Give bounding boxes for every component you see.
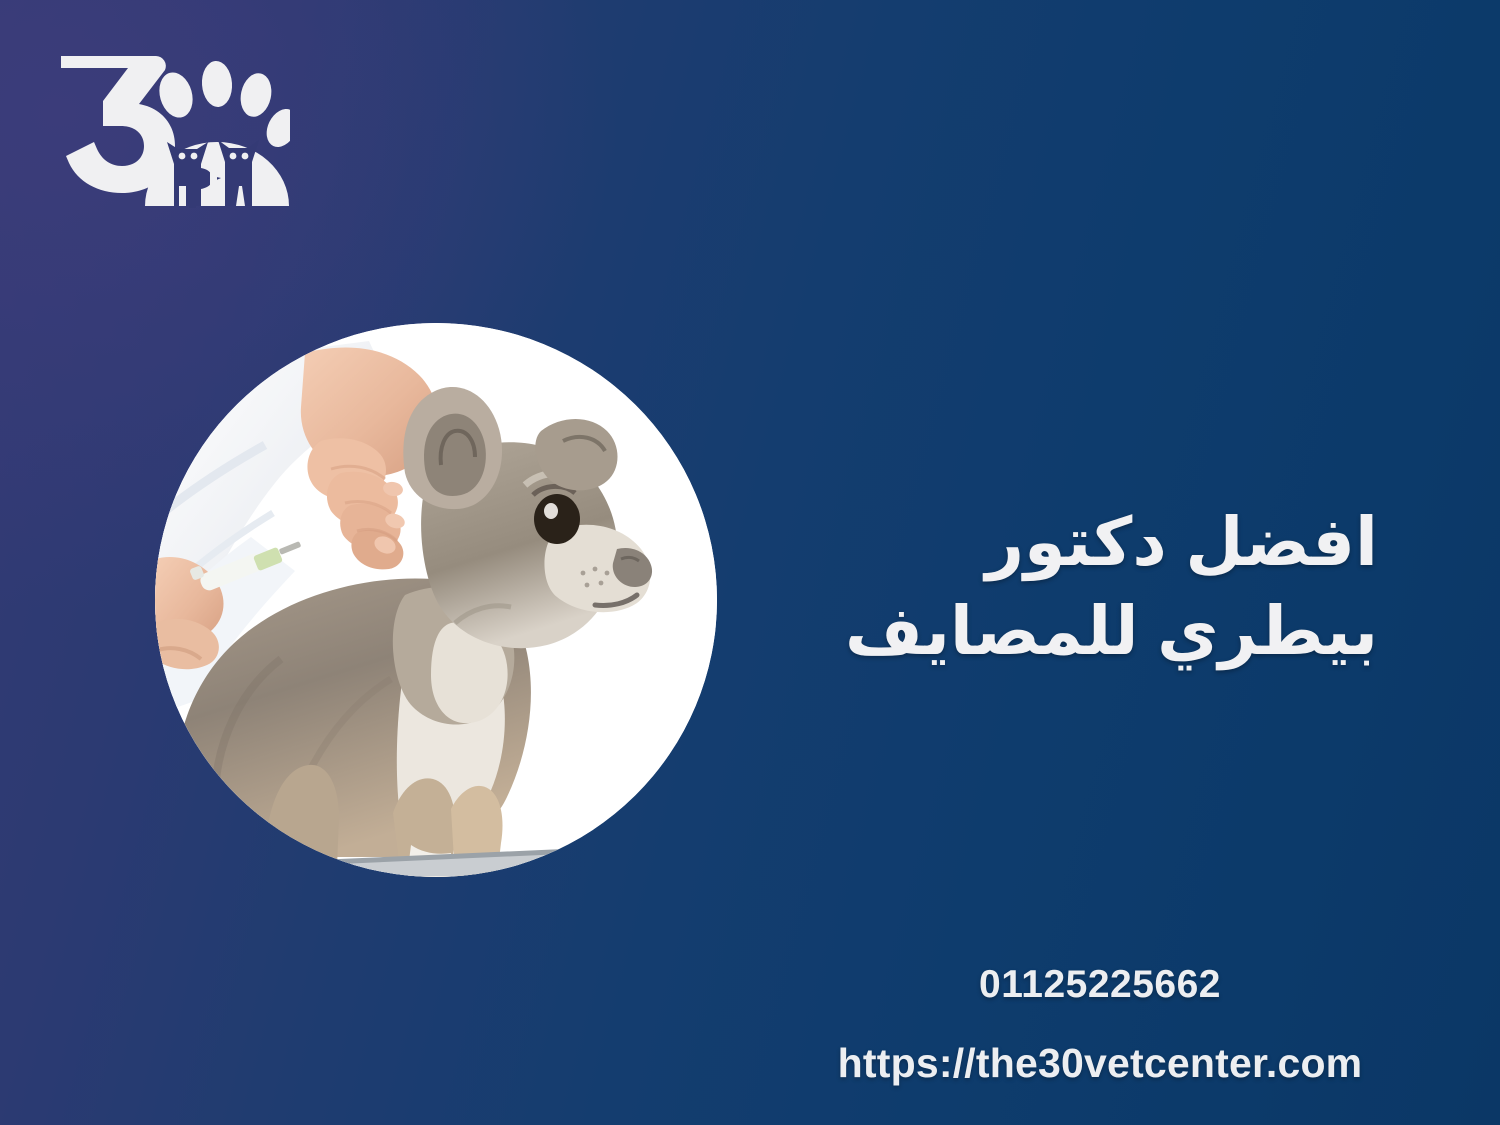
- promo-banner: افضل دكتور بيطري للمصايف 01125225662 htt…: [0, 0, 1500, 1125]
- headline-line-2: بيطري للمصايف: [678, 587, 1378, 676]
- headline-line-1: افضل دكتور: [678, 498, 1378, 587]
- contact-block: 01125225662 https://the30vetcenter.com: [780, 963, 1420, 1087]
- phone-number[interactable]: 01125225662: [780, 963, 1420, 1007]
- brand-logo[interactable]: [55, 48, 290, 208]
- page-title: افضل دكتور بيطري للمصايف: [678, 498, 1378, 676]
- hero-photo: [155, 323, 717, 877]
- website-url[interactable]: https://the30vetcenter.com: [780, 1040, 1420, 1087]
- vet-center-30-paw-dog-cat-logo: [55, 48, 290, 208]
- veterinarian-vaccinating-chihuahua-photo: [155, 323, 717, 877]
